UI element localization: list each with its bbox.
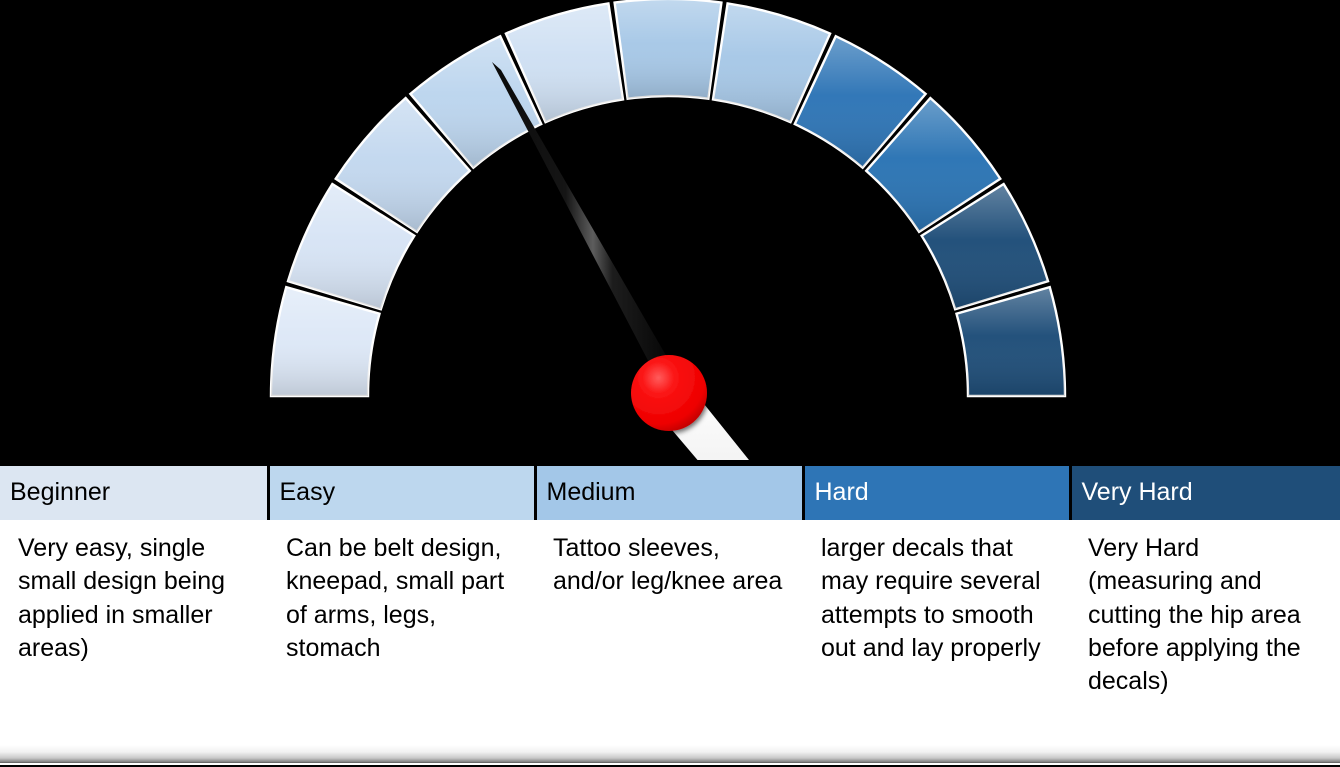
legend-header-easy[interactable]: Easy xyxy=(268,466,535,520)
legend-body-row: Very easy, single small design being app… xyxy=(0,520,1340,765)
gauge-segment-sheen-6 xyxy=(615,0,722,99)
legend-header-very-hard[interactable]: Very Hard xyxy=(1070,466,1340,520)
difficulty-gauge xyxy=(0,0,1340,470)
legend-cell-medium: Tattoo sleeves, and/or leg/knee area xyxy=(535,520,803,765)
legend-header-hard[interactable]: Hard xyxy=(803,466,1070,520)
table-bottom-edge xyxy=(0,745,1340,763)
legend-cell-beginner: Very easy, single small design being app… xyxy=(0,520,268,765)
legend-header-row: Beginner Easy Medium Hard Very Hard xyxy=(0,466,1340,520)
difficulty-legend-table: Beginner Easy Medium Hard Very Hard Very… xyxy=(0,466,1340,765)
gauge-needle xyxy=(492,62,686,390)
legend-cell-hard: larger decals that may require several a… xyxy=(803,520,1070,765)
legend-header-beginner[interactable]: Beginner xyxy=(0,466,268,520)
legend-header-medium[interactable]: Medium xyxy=(535,466,803,520)
slide-canvas: Beginner Easy Medium Hard Very Hard Very… xyxy=(0,0,1340,767)
gauge-hub xyxy=(631,355,707,431)
legend-cell-very-hard: Very Hard (measuring and cutting the hip… xyxy=(1070,520,1340,765)
gauge-band-group xyxy=(271,0,1065,396)
legend-cell-easy: Can be belt design, kneepad, small part … xyxy=(268,520,535,765)
gauge-svg xyxy=(0,0,1340,470)
